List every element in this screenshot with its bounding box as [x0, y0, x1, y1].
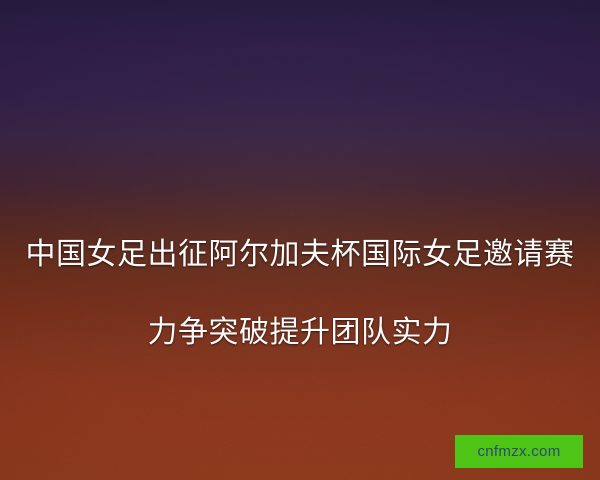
headline-line-1: 中国女足出征阿尔加夫杯国际女足邀请赛	[14, 235, 586, 274]
cover-image: 中国女足出征阿尔加夫杯国际女足邀请赛 力争突破提升团队实力 cnfmzx.com	[0, 0, 600, 480]
watermark-label: cnfmzx.com	[477, 444, 560, 459]
headline-line-2: 力争突破提升团队实力	[14, 313, 586, 352]
headline: 中国女足出征阿尔加夫杯国际女足邀请赛 力争突破提升团队实力	[0, 196, 600, 391]
watermark-badge[interactable]: cnfmzx.com	[455, 435, 583, 468]
